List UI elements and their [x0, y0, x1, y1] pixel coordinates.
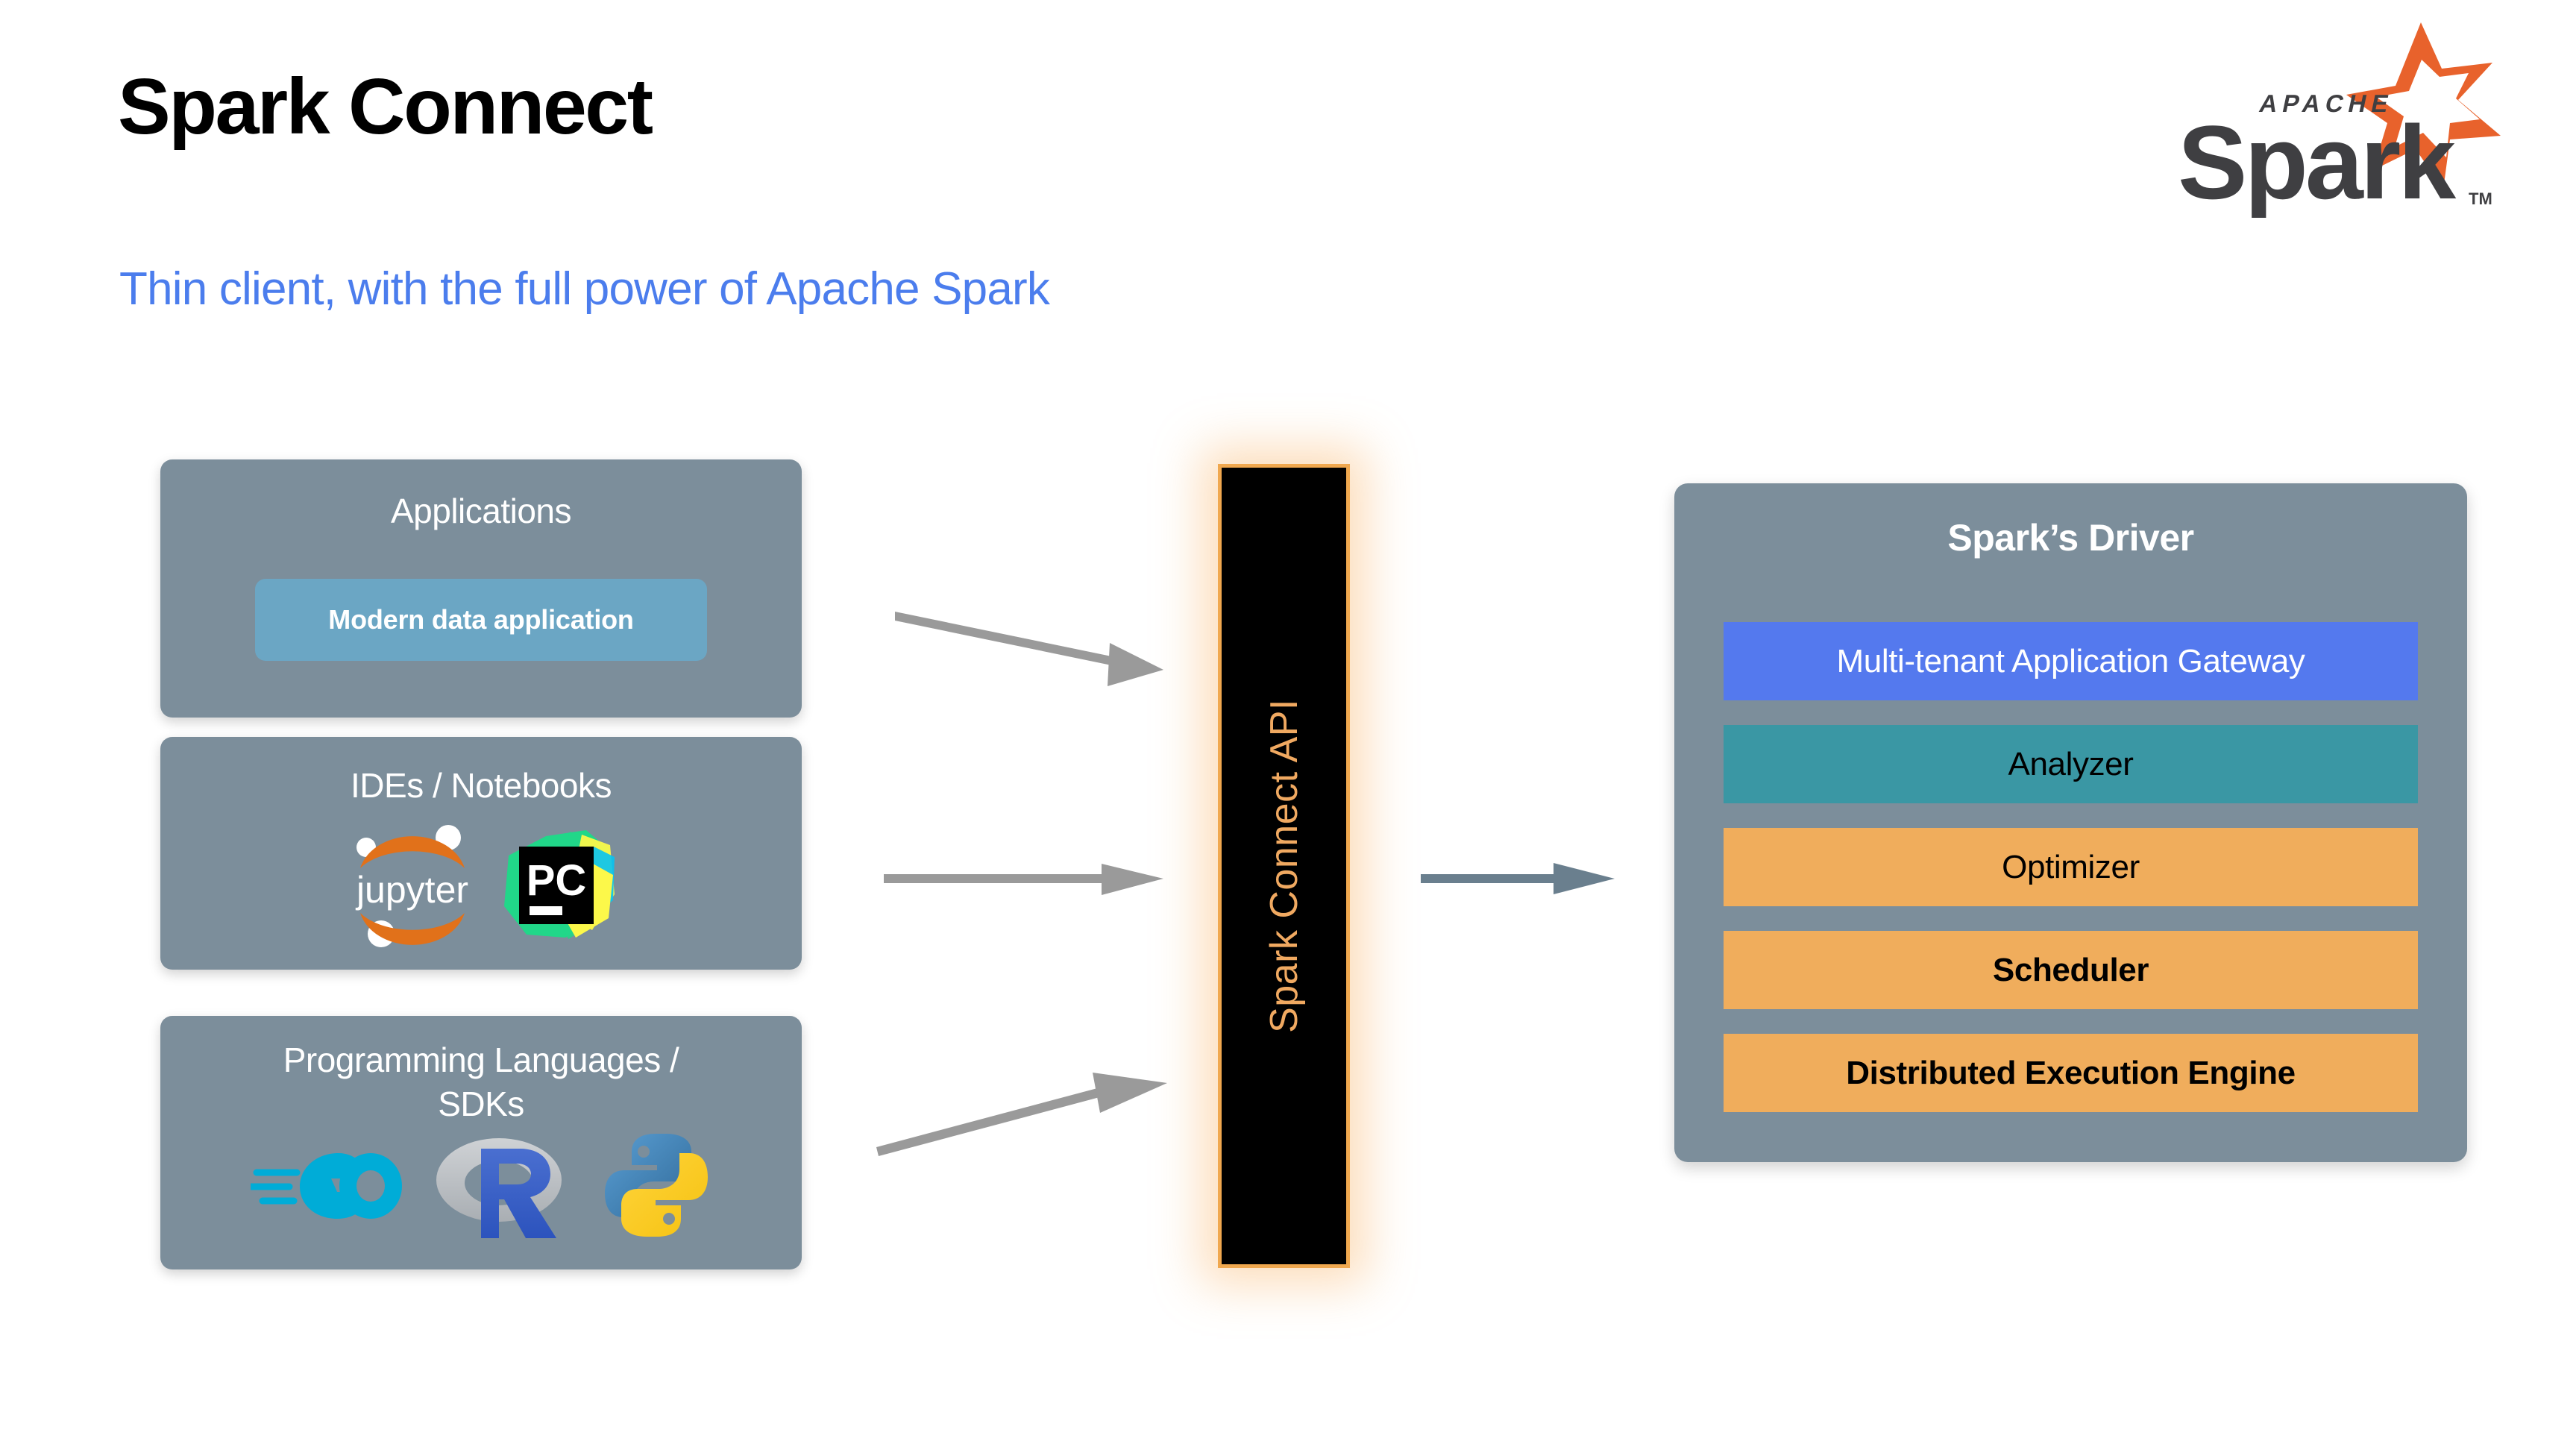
driver-layer-gateway[interactable]: Multi-tenant Application Gateway [1724, 622, 2418, 700]
go-logo [251, 1144, 403, 1230]
arrow-api-to-driver [1421, 861, 1615, 906]
svg-text:PC: PC [527, 856, 587, 905]
client-box-languages[interactable]: Programming Languages / SDKs [160, 1016, 802, 1269]
client-box-applications[interactable]: Applications Modern data application [160, 459, 802, 718]
driver-layer-stack: Multi-tenant Application Gateway Analyze… [1724, 622, 2418, 1112]
driver-layer-distributed-execution-engine[interactable]: Distributed Execution Engine [1724, 1034, 2418, 1112]
ide-logo-row: jupyter PC [160, 820, 802, 952]
spark-connect-api-bar[interactable]: Spark Connect API [1218, 464, 1350, 1268]
apache-spark-logo: APACHE Spark TM [2129, 16, 2510, 218]
driver-layer-scheduler[interactable]: Scheduler [1724, 931, 2418, 1009]
client-box-languages-title-line1: Programming Languages / [283, 1040, 679, 1079]
client-box-ides-title: IDEs / Notebooks [160, 764, 802, 808]
svg-text:jupyter: jupyter [355, 869, 468, 911]
spark-connect-api-label: Spark Connect API [1262, 699, 1307, 1033]
svg-text:Spark: Spark [2178, 104, 2456, 218]
driver-panel-title: Spark’s Driver [1674, 516, 2467, 559]
driver-panel[interactable]: Spark’s Driver Multi-tenant Application … [1674, 483, 2467, 1162]
page-title: Spark Connect [118, 66, 652, 148]
svg-text:TM: TM [2469, 189, 2492, 208]
driver-layer-optimizer[interactable]: Optimizer [1724, 828, 2418, 906]
driver-layer-analyzer[interactable]: Analyzer [1724, 725, 2418, 803]
pycharm-logo: PC [497, 826, 616, 947]
arrow-applications-to-api [895, 612, 1163, 716]
page-subtitle: Thin client, with the full power of Apac… [119, 263, 1049, 316]
arrow-ides-to-api [884, 858, 1163, 910]
language-logo-row [160, 1129, 802, 1245]
client-box-languages-title: Programming Languages / SDKs [160, 1038, 802, 1126]
jupyter-logo: jupyter [346, 820, 479, 952]
client-box-applications-title: Applications [160, 489, 802, 533]
arrow-languages-to-api [876, 1059, 1167, 1178]
client-box-ides[interactable]: IDEs / Notebooks jupyter [160, 737, 802, 970]
modern-data-application-chip[interactable]: Modern data application [255, 579, 707, 661]
r-logo [435, 1129, 569, 1245]
client-box-languages-title-line2: SDKs [438, 1085, 524, 1123]
python-logo [600, 1129, 712, 1245]
